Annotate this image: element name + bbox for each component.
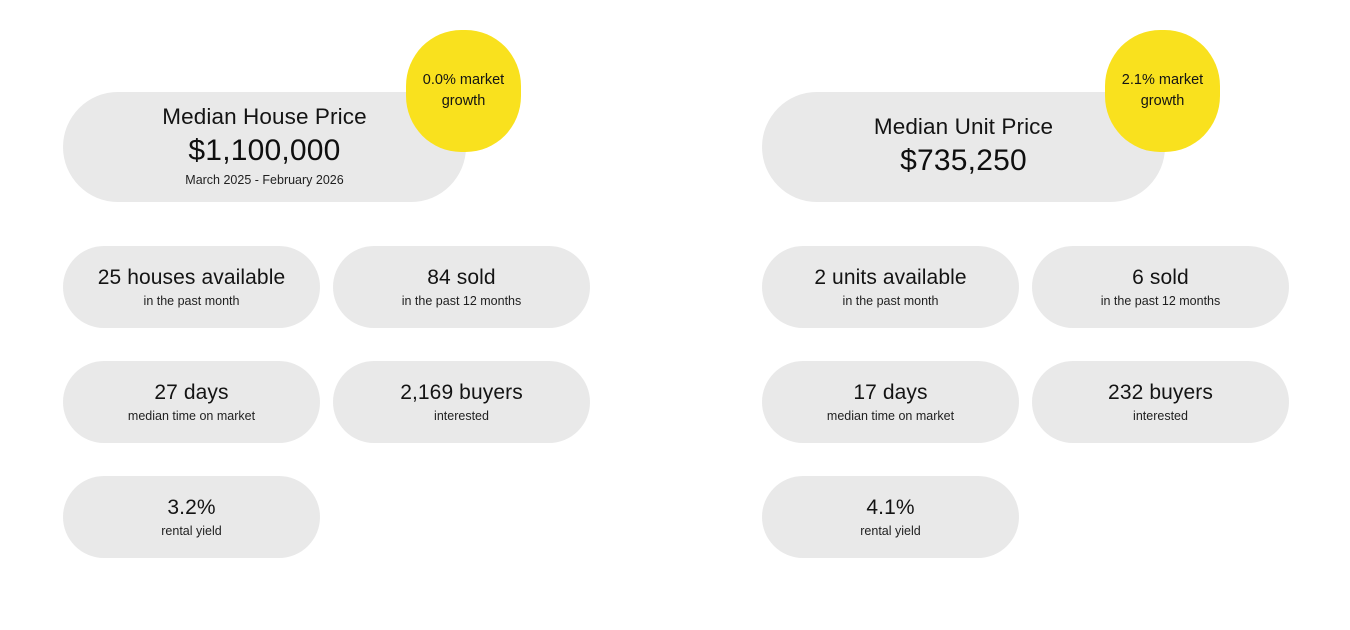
stat-value: 84 sold — [427, 265, 495, 290]
stat-row: 27 days median time on market 2,169 buye… — [63, 361, 611, 443]
unit-header-card: Median Unit Price $735,250 — [762, 92, 1165, 202]
house-market-growth-badge: 0.0% market growth — [406, 30, 521, 152]
stat-label: in the past 12 months — [402, 294, 522, 309]
stat-row: 3.2% rental yield — [63, 476, 611, 558]
stat-value: 3.2% — [167, 495, 215, 520]
house-price-title: Median House Price — [162, 104, 366, 131]
house-stats-grid: 25 houses available in the past month 84… — [63, 246, 611, 591]
stat-card-units-available: 2 units available in the past month — [762, 246, 1019, 328]
house-growth-line1: 0.0% market — [423, 70, 504, 91]
stat-row: 4.1% rental yield — [762, 476, 1310, 558]
unit-price-title: Median Unit Price — [874, 114, 1053, 141]
stat-value: 2 units available — [814, 265, 966, 290]
stat-row: 25 houses available in the past month 84… — [63, 246, 611, 328]
house-header-group: Median House Price $1,100,000 March 2025… — [63, 92, 466, 202]
panel-unit: Median Unit Price $735,250 2.1% market g… — [739, 0, 1350, 630]
unit-header-group: Median Unit Price $735,250 2.1% market g… — [762, 92, 1165, 202]
stat-card-units-sold: 6 sold in the past 12 months — [1032, 246, 1289, 328]
unit-stats-grid: 2 units available in the past month 6 so… — [762, 246, 1310, 591]
stat-label: interested — [434, 409, 489, 424]
stat-label: median time on market — [128, 409, 255, 424]
stat-value: 25 houses available — [98, 265, 286, 290]
stat-value: 232 buyers — [1108, 380, 1213, 405]
stat-card-houses-sold: 84 sold in the past 12 months — [333, 246, 590, 328]
stat-label: rental yield — [860, 524, 920, 539]
stat-label: in the past 12 months — [1101, 294, 1221, 309]
stat-value: 2,169 buyers — [400, 380, 523, 405]
stat-card-units-rental-yield: 4.1% rental yield — [762, 476, 1019, 558]
unit-price-value: $735,250 — [900, 142, 1027, 180]
stat-card-units-buyers: 232 buyers interested — [1032, 361, 1289, 443]
stat-card-houses-buyers: 2,169 buyers interested — [333, 361, 590, 443]
unit-growth-line1: 2.1% market — [1122, 70, 1203, 91]
stat-card-units-days-on-market: 17 days median time on market — [762, 361, 1019, 443]
stat-row: 17 days median time on market 232 buyers… — [762, 361, 1310, 443]
stat-label: interested — [1133, 409, 1188, 424]
stat-card-placeholder — [1032, 476, 1289, 558]
stat-card-placeholder — [333, 476, 590, 558]
stat-card-houses-rental-yield: 3.2% rental yield — [63, 476, 320, 558]
house-price-value: $1,100,000 — [188, 132, 340, 170]
house-price-date-range: March 2025 - February 2026 — [185, 173, 343, 188]
stat-value: 17 days — [853, 380, 927, 405]
market-stats-board: Median House Price $1,100,000 March 2025… — [0, 0, 1350, 630]
stat-label: median time on market — [827, 409, 954, 424]
stat-label: rental yield — [161, 524, 221, 539]
unit-growth-line2: growth — [1122, 91, 1203, 112]
stat-label: in the past month — [144, 294, 240, 309]
stat-value: 4.1% — [866, 495, 914, 520]
house-header-card: Median House Price $1,100,000 March 2025… — [63, 92, 466, 202]
stat-label: in the past month — [843, 294, 939, 309]
unit-market-growth-badge: 2.1% market growth — [1105, 30, 1220, 152]
panel-house: Median House Price $1,100,000 March 2025… — [40, 0, 660, 630]
house-growth-line2: growth — [423, 91, 504, 112]
stat-value: 27 days — [154, 380, 228, 405]
stat-value: 6 sold — [1132, 265, 1189, 290]
stat-card-houses-days-on-market: 27 days median time on market — [63, 361, 320, 443]
stat-card-houses-available: 25 houses available in the past month — [63, 246, 320, 328]
stat-row: 2 units available in the past month 6 so… — [762, 246, 1310, 328]
